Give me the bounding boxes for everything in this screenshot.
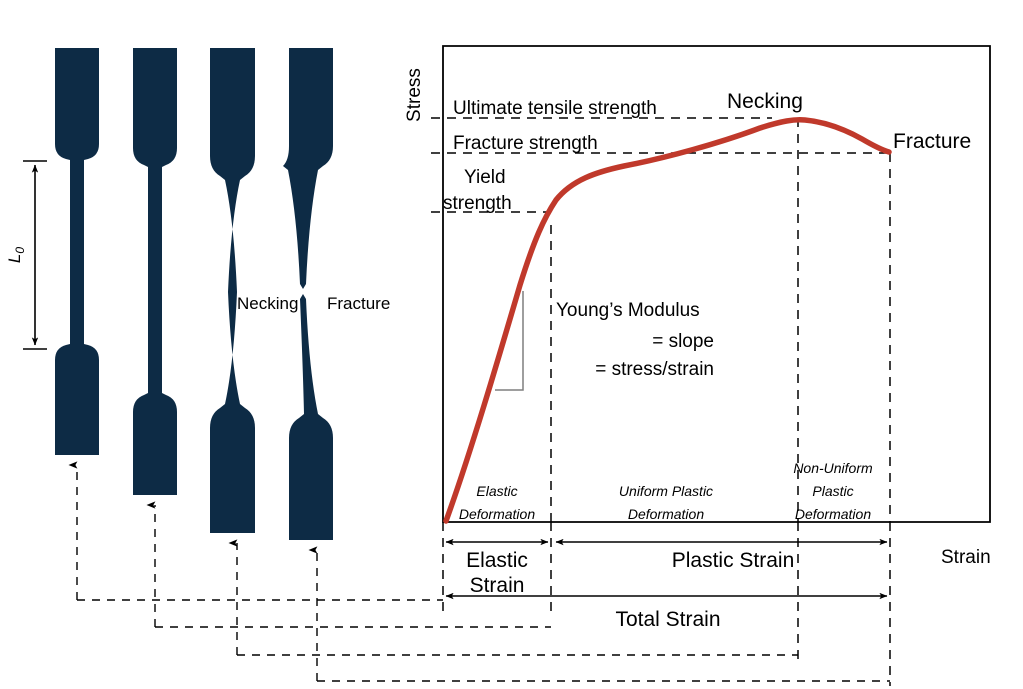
specimen-leader-lines: [77, 465, 317, 681]
region-nonuniform-line3: Deformation: [795, 506, 871, 522]
specimen-1-undeformed: [55, 48, 99, 455]
specimen-to-chart-connectors: [77, 600, 890, 681]
region-uniform-line1: Uniform Plastic: [619, 483, 713, 499]
figure-root: L0 Necking Fracture Stress Strain: [0, 0, 1023, 689]
plastic-strain-label: Plastic Strain: [672, 549, 795, 572]
region-label-uniform-plastic: Uniform Plastic Deformation: [619, 483, 713, 522]
strain-extension-ticks: [443, 522, 890, 686]
y-axis-label: Stress: [404, 68, 425, 122]
annotation-yield-strength-line2: strength: [443, 193, 512, 214]
specimen-fracture-label: Fracture: [327, 294, 390, 313]
region-nonuniform-line1: Non-Uniform: [793, 460, 873, 476]
gauge-length-label: L0: [5, 247, 27, 263]
x-axis-label: Strain: [941, 547, 991, 568]
region-nonuniform-line2: Plastic: [812, 483, 853, 499]
elastic-strain-label-line1: Elastic: [466, 549, 528, 572]
stress-strain-figure: L0 Necking Fracture Stress Strain: [0, 0, 1023, 689]
region-uniform-line2: Deformation: [628, 506, 704, 522]
total-strain-measure: Total Strain: [446, 596, 887, 631]
plastic-strain-measure: Plastic Strain: [556, 542, 887, 572]
region-elastic-line1: Elastic: [476, 483, 517, 499]
region-elastic-line2: Deformation: [459, 506, 535, 522]
region-label-elastic-deformation: Elastic Deformation: [459, 483, 535, 522]
annotation-necking: Necking: [727, 90, 803, 113]
annotation-fracture: Fracture: [893, 130, 971, 153]
annotation-fracture-strength: Fracture strength: [453, 133, 598, 154]
gauge-length-l: L: [5, 254, 24, 263]
annotation-youngs-modulus-line3: = stress/strain: [595, 359, 714, 380]
slope-triangle: [495, 291, 523, 390]
region-label-non-uniform-plastic: Non-Uniform Plastic Deformation: [793, 460, 873, 522]
specimen-3-necking: [210, 48, 255, 533]
annotation-yield-strength-line1: Yield: [464, 167, 506, 188]
total-strain-label: Total Strain: [615, 608, 720, 631]
annotation-ultimate-tensile-strength: Ultimate tensile strength: [453, 98, 657, 119]
gauge-length-subscript: 0: [13, 247, 27, 254]
specimen-2-elastic: [133, 48, 177, 495]
elastic-strain-measure: Elastic Strain: [446, 542, 548, 597]
annotation-youngs-modulus-line2: = slope: [652, 331, 714, 352]
annotation-youngs-modulus-line1: Young’s Modulus: [556, 300, 700, 321]
elastic-strain-label-line2: Strain: [470, 574, 525, 597]
specimen-necking-label: Necking: [237, 294, 298, 313]
gauge-length-dimension: [23, 161, 47, 349]
